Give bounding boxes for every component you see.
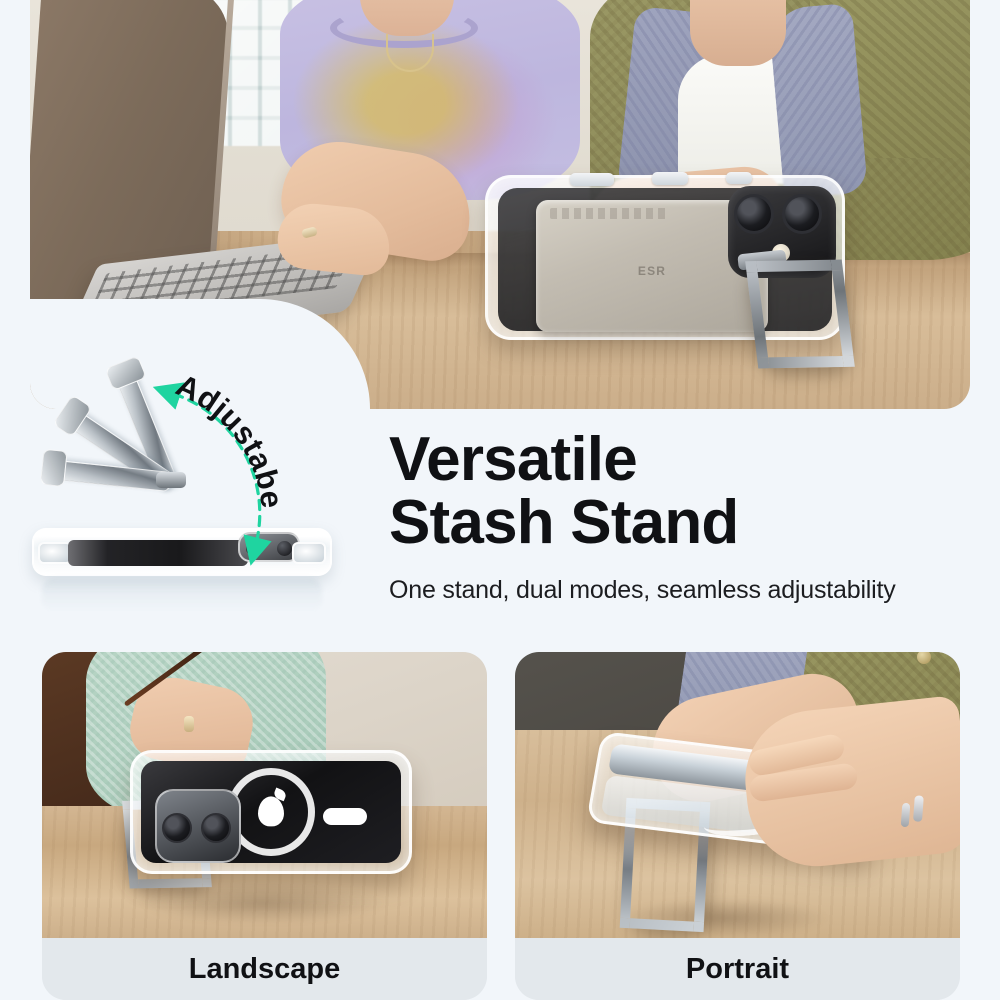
apple-logo-icon	[258, 796, 284, 826]
cardigan-button	[917, 652, 931, 664]
landscape-photo	[42, 652, 487, 938]
product-feature-page: ESR	[0, 0, 1000, 1000]
landscape-caption-bar: Landscape	[42, 938, 487, 1000]
headline-line-1: Versatile	[389, 428, 989, 491]
case-corner-left	[38, 542, 72, 564]
phone-landscape	[130, 750, 412, 874]
subheadline: One stand, dual modes, seamless adjustab…	[389, 576, 989, 605]
mode-card-landscape: Landscape	[42, 652, 487, 1000]
camera-island	[155, 789, 241, 863]
esr-brand-mark: ESR	[638, 264, 666, 278]
ui-pill-indicator	[323, 808, 367, 825]
clear-phone-case: ESR	[485, 175, 845, 340]
mode-card-portrait: Portrait	[515, 652, 960, 1000]
case-button-cutout	[652, 172, 688, 185]
phone-drop-shadow	[138, 882, 388, 924]
camera-lens	[782, 194, 822, 234]
landscape-caption-text: Landscape	[189, 953, 341, 986]
feature-copy-block: Versatile Stash Stand One stand, dual mo…	[389, 428, 989, 605]
case-button-cutout	[726, 172, 752, 184]
person-ring	[901, 803, 911, 827]
case-button-cutout	[570, 173, 614, 186]
person-ring	[184, 716, 194, 732]
feature-section: Adjustabe Versatile Stash Stand One stan…	[0, 340, 1000, 640]
adjustable-arc-annotation: Adjustabe	[140, 354, 370, 574]
headline: Versatile Stash Stand	[389, 428, 989, 554]
portrait-caption-bar: Portrait	[515, 938, 960, 1000]
adjustable-arc-label: Adjustabe	[171, 367, 290, 510]
headline-line-2: Stash Stand	[389, 491, 989, 554]
camera-lens	[734, 194, 774, 234]
camera-lens	[162, 813, 192, 843]
portrait-caption-text: Portrait	[686, 953, 789, 986]
portrait-photo	[515, 652, 960, 938]
phone-reflection	[42, 578, 322, 612]
hero-phone-with-power-bank: ESR	[485, 175, 845, 340]
camera-lens	[201, 813, 231, 843]
power-bank-printing	[550, 208, 670, 219]
person-ring	[913, 795, 924, 822]
person-right-neck	[690, 0, 786, 66]
